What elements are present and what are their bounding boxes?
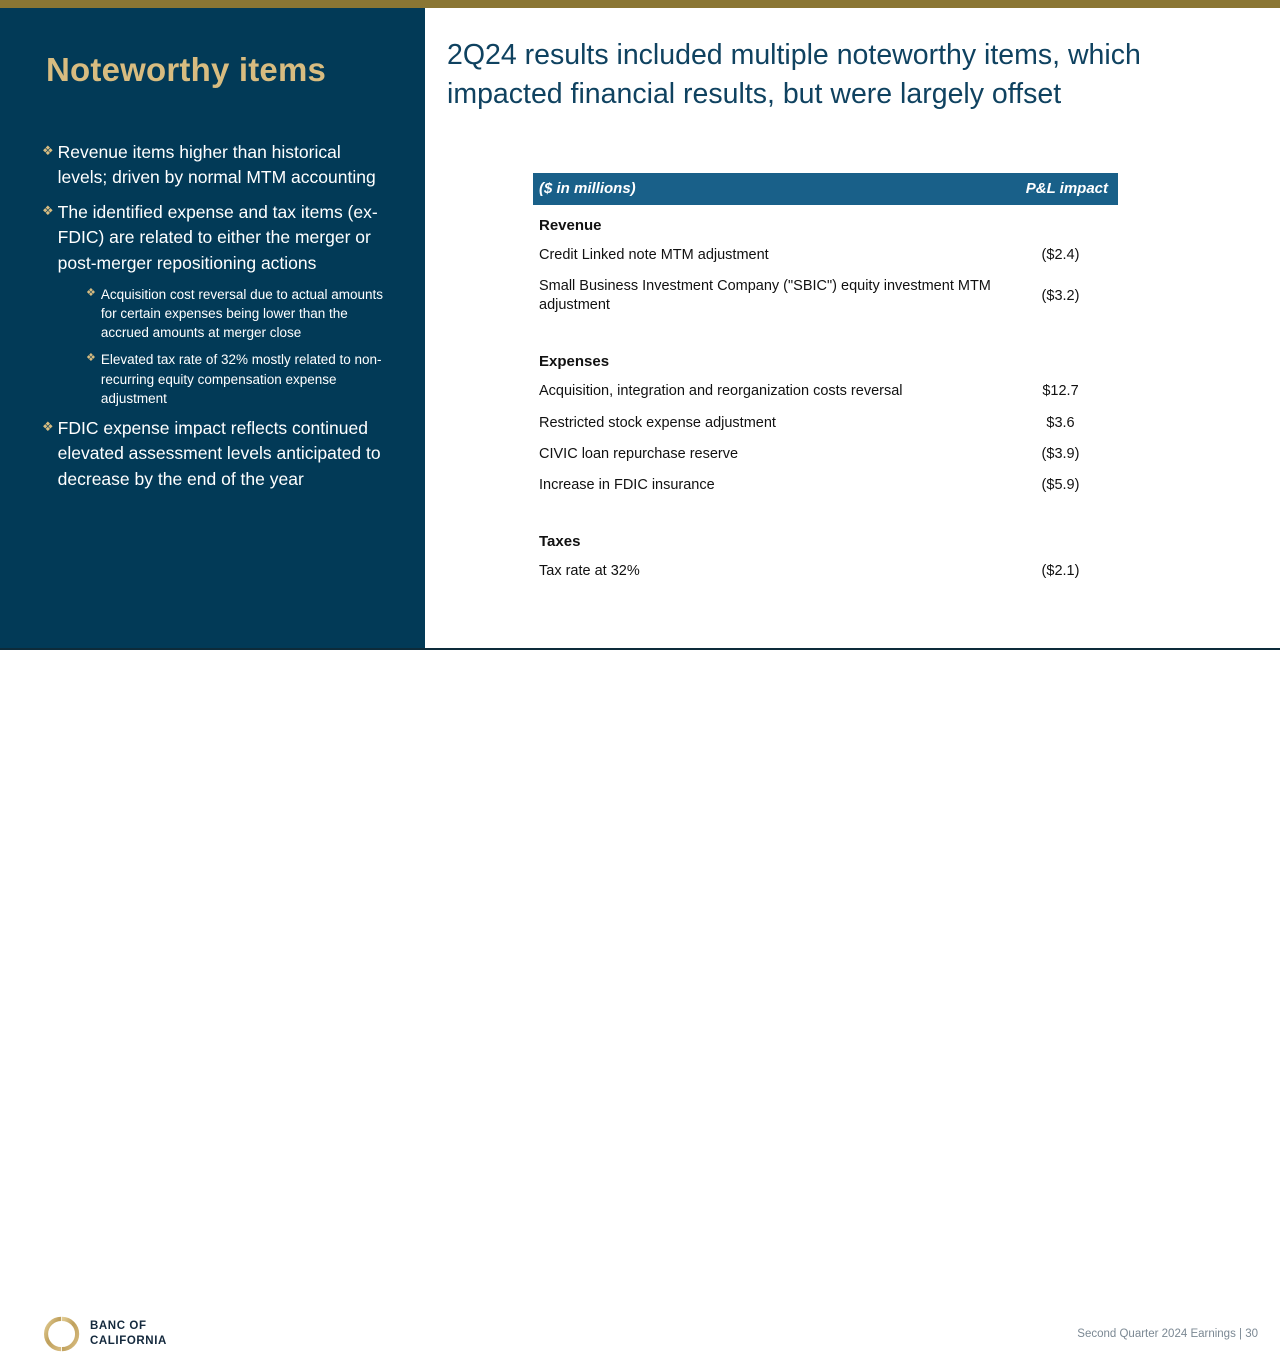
table-section-header: Taxes <box>533 521 1118 556</box>
row-label: Acquisition, integration and reorganizat… <box>533 376 1003 407</box>
banc-of-california-ring-icon <box>44 1316 80 1352</box>
sub-list-item-label: Elevated tax rate of 32% mostly related … <box>101 350 390 407</box>
sub-list-item-label: Acquisition cost reversal due to actual … <box>101 285 390 342</box>
diamond-bullet-icon: ❖ <box>86 285 96 301</box>
section-label: Expenses <box>533 341 1118 376</box>
table-row: CIVIC loan repurchase reserve ($3.9) <box>533 439 1118 470</box>
row-label: Credit Linked note MTM adjustment <box>533 240 1003 271</box>
row-label: Increase in FDIC insurance <box>533 470 1003 501</box>
table-row: Small Business Investment Company ("SBIC… <box>533 271 1118 321</box>
list-item-label: Revenue items higher than historical lev… <box>58 140 390 191</box>
row-value: ($3.9) <box>1003 439 1118 470</box>
table-row: Acquisition, integration and reorganizat… <box>533 376 1118 407</box>
slide: Noteworthy items ❖ Revenue items higher … <box>0 0 1280 720</box>
table-header-value: P&L impact <box>1003 173 1118 205</box>
diamond-bullet-icon: ❖ <box>42 140 54 159</box>
row-label: Tax rate at 32% <box>533 556 1003 587</box>
table-section-header: Revenue <box>533 205 1118 240</box>
table-header-units: ($ in millions) <box>533 173 1003 205</box>
footer: BANC OF CALIFORNIA Second Quarter 2024 E… <box>0 650 1280 720</box>
brand-logo-line1: BANC OF <box>90 1319 167 1334</box>
diamond-bullet-icon: ❖ <box>42 200 54 219</box>
top-gold-band <box>0 0 1280 8</box>
section-label: Revenue <box>533 205 1118 240</box>
table-row: Tax rate at 32% ($2.1) <box>533 556 1118 587</box>
row-value: $3.6 <box>1003 408 1118 439</box>
row-value: ($5.9) <box>1003 470 1118 501</box>
list-item-label: FDIC expense impact reflects continued e… <box>58 416 390 492</box>
diamond-bullet-icon: ❖ <box>42 416 54 435</box>
sidebar-panel: Noteworthy items ❖ Revenue items higher … <box>0 8 425 648</box>
row-value: $12.7 <box>1003 376 1118 407</box>
list-item: ❖ Revenue items higher than historical l… <box>42 140 390 191</box>
sub-list-item: ❖ Elevated tax rate of 32% mostly relate… <box>86 350 390 407</box>
list-item: ❖ FDIC expense impact reflects continued… <box>42 416 390 492</box>
slide-headline: 2Q24 results included multiple noteworth… <box>447 36 1247 115</box>
table-spacer <box>533 321 1118 341</box>
table-header-row: ($ in millions) P&L impact <box>533 173 1118 205</box>
brand-logo-text: BANC OF CALIFORNIA <box>90 1319 167 1348</box>
list-item: ❖ The identified expense and tax items (… <box>42 200 390 276</box>
noteworthy-items-table: ($ in millions) P&L impact Revenue Credi… <box>533 173 1118 587</box>
row-label: Small Business Investment Company ("SBIC… <box>533 271 1003 321</box>
table-section-header: Expenses <box>533 341 1118 376</box>
table-spacer <box>533 501 1118 521</box>
table-row: Increase in FDIC insurance ($5.9) <box>533 470 1118 501</box>
footer-note: Second Quarter 2024 Earnings | 30 <box>1077 1328 1258 1340</box>
page-title: Noteworthy items <box>46 52 406 88</box>
row-value: ($2.1) <box>1003 556 1118 587</box>
sidebar-sub-bullet-list: ❖ Acquisition cost reversal due to actua… <box>42 285 390 408</box>
table-row: Restricted stock expense adjustment $3.6 <box>533 408 1118 439</box>
row-value: ($3.2) <box>1003 271 1118 321</box>
brand-logo-line2: CALIFORNIA <box>90 1334 167 1349</box>
list-item-label: The identified expense and tax items (ex… <box>58 200 390 276</box>
section-label: Taxes <box>533 521 1118 556</box>
row-label: CIVIC loan repurchase reserve <box>533 439 1003 470</box>
table-row: Credit Linked note MTM adjustment ($2.4) <box>533 240 1118 271</box>
brand-logo: BANC OF CALIFORNIA <box>44 1316 167 1352</box>
row-label: Restricted stock expense adjustment <box>533 408 1003 439</box>
sub-list-item: ❖ Acquisition cost reversal due to actua… <box>86 285 390 342</box>
sidebar-bullet-list: ❖ Revenue items higher than historical l… <box>42 140 390 501</box>
row-value: ($2.4) <box>1003 240 1118 271</box>
diamond-bullet-icon: ❖ <box>86 350 96 366</box>
